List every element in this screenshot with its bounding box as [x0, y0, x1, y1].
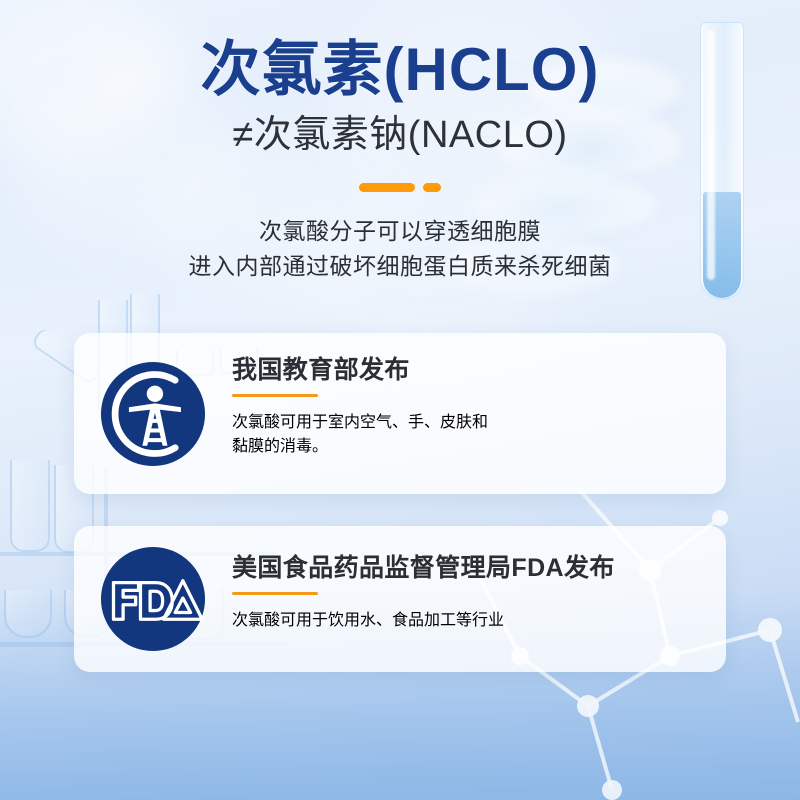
divider-dash-short [423, 183, 441, 192]
fda-logo-icon [100, 546, 206, 652]
card-title-underline [232, 592, 318, 595]
poster-header: 次氯素(HCLO) ≠次氯素钠(NACLO) 次氯酸分子可以穿透细胞膜 进入内部… [0, 0, 800, 285]
ministry-of-education-emblem-icon [100, 361, 206, 467]
card-description-line-1: 次氯酸可用于饮用水、食品加工等行业 [232, 606, 700, 630]
certification-card-list: 我国教育部发布 次氯酸可用于室内空气、手、皮肤和 黏膜的消毒。 [74, 333, 726, 672]
poster-canvas: 次氯素(HCLO) ≠次氯素钠(NACLO) 次氯酸分子可以穿透细胞膜 进入内部… [0, 0, 800, 800]
card-description-line-2: 黏膜的消毒。 [232, 432, 700, 456]
card-title: 美国食品药品监督管理局FDA发布 [232, 553, 700, 583]
page-subtitle: ≠次氯素钠(NACLO) [0, 115, 800, 157]
card-title-underline [232, 394, 318, 397]
divider-dash-long [359, 183, 415, 192]
lead-line-2: 进入内部通过破坏细胞蛋白质来杀死细菌 [90, 249, 710, 285]
lead-paragraph: 次氯酸分子可以穿透细胞膜 进入内部通过破坏细胞蛋白质来杀死细菌 [90, 214, 710, 285]
card-body: 我国教育部发布 次氯酸可用于室内空气、手、皮肤和 黏膜的消毒。 [232, 355, 700, 472]
card-title: 我国教育部发布 [232, 355, 700, 385]
card-description-line-1: 次氯酸可用于室内空气、手、皮肤和 [232, 408, 700, 432]
lead-line-1: 次氯酸分子可以穿透细胞膜 [90, 214, 710, 250]
orange-dash-divider [352, 183, 448, 192]
card-body: 美国食品药品监督管理局FDA发布 次氯酸可用于饮用水、食品加工等行业 [232, 553, 700, 646]
card-fda[interactable]: 美国食品药品监督管理局FDA发布 次氯酸可用于饮用水、食品加工等行业 [74, 526, 726, 672]
page-title: 次氯素(HCLO) [0, 38, 800, 101]
card-ministry-of-education[interactable]: 我国教育部发布 次氯酸可用于室内空气、手、皮肤和 黏膜的消毒。 [74, 333, 726, 494]
